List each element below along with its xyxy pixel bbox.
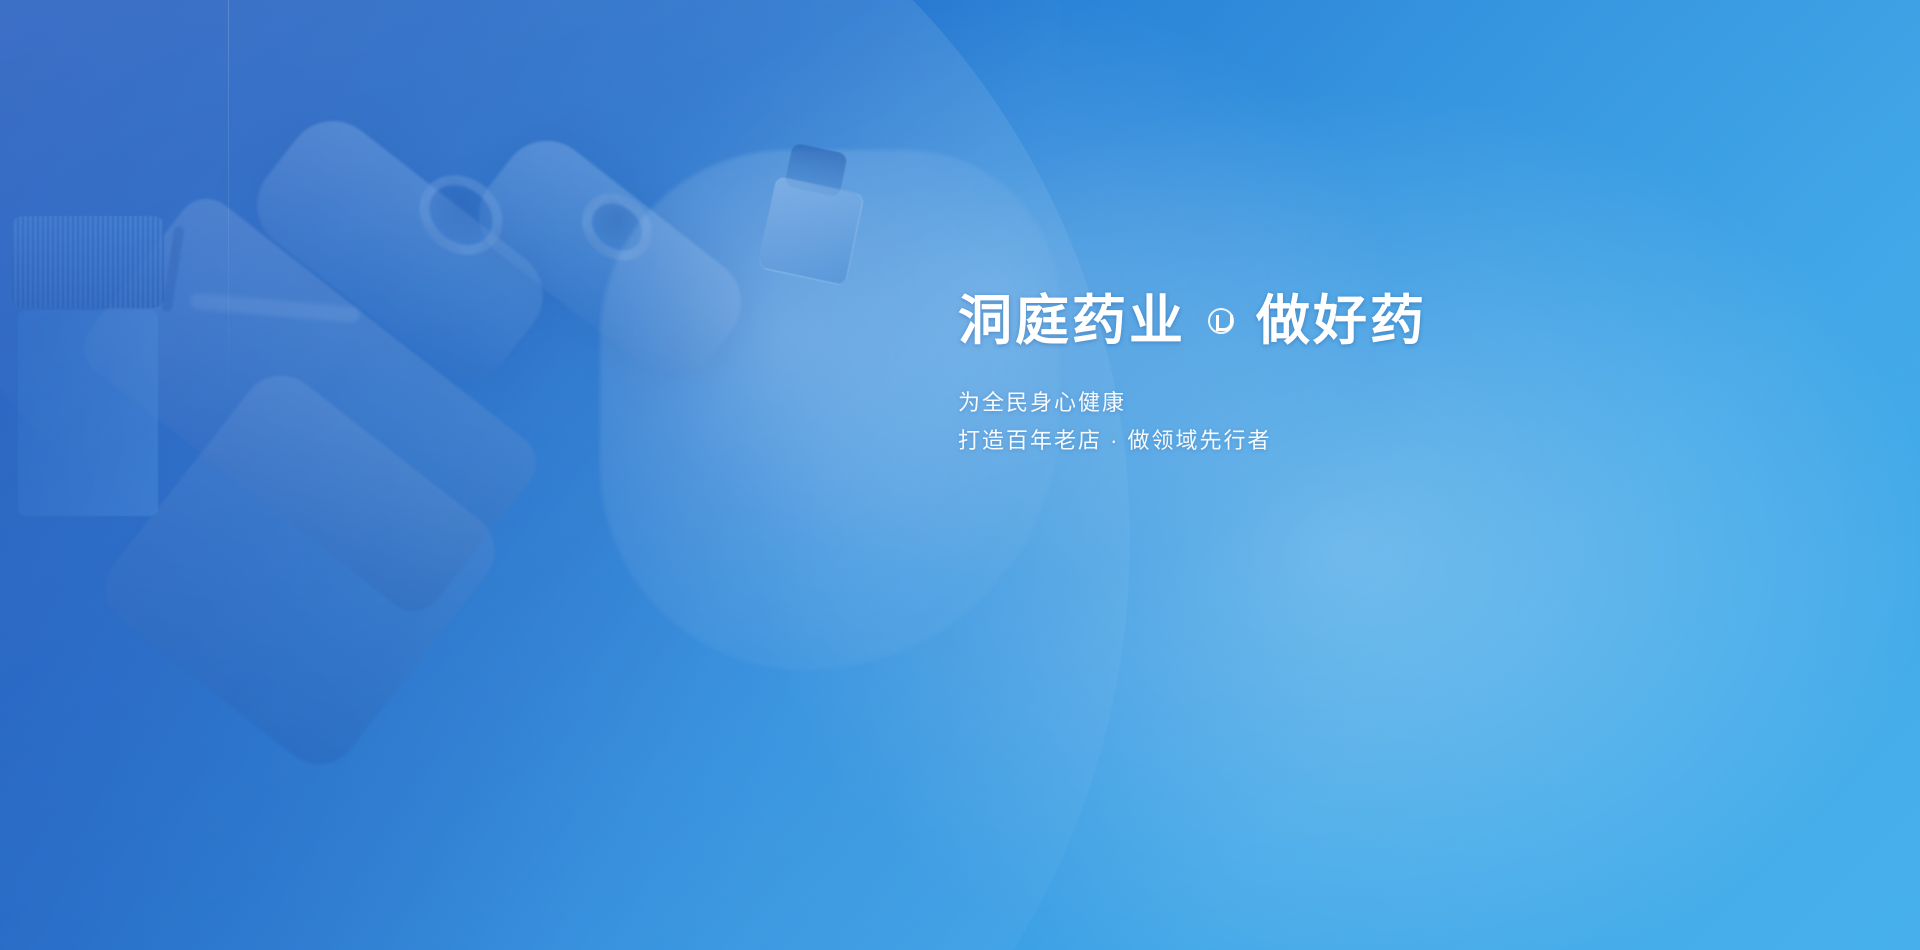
hero-copy: 洞庭药业 做好药 为全民身心健康 打造百年老店 · 做领域先行者 bbox=[958, 258, 1718, 460]
hero-title-part-one: 洞庭药业 bbox=[958, 294, 1186, 348]
hero-title-part-two: 做好药 bbox=[1256, 294, 1427, 348]
blue-color-overlay bbox=[0, 0, 1920, 950]
hero-subtitle-line-1: 为全民身心健康 bbox=[958, 384, 1718, 422]
hero-banner: 洞庭药业 做好药 为全民身心健康 打造百年老店 · 做领域先行者 bbox=[0, 0, 1920, 950]
brand-roundel-icon bbox=[1208, 308, 1234, 334]
hero-title: 洞庭药业 做好药 bbox=[958, 294, 1718, 348]
hero-subtitle: 为全民身心健康 打造百年老店 · 做领域先行者 bbox=[958, 384, 1718, 460]
decorative-seam bbox=[228, 0, 229, 420]
hero-subtitle-line-2: 打造百年老店 · 做领域先行者 bbox=[958, 422, 1718, 460]
